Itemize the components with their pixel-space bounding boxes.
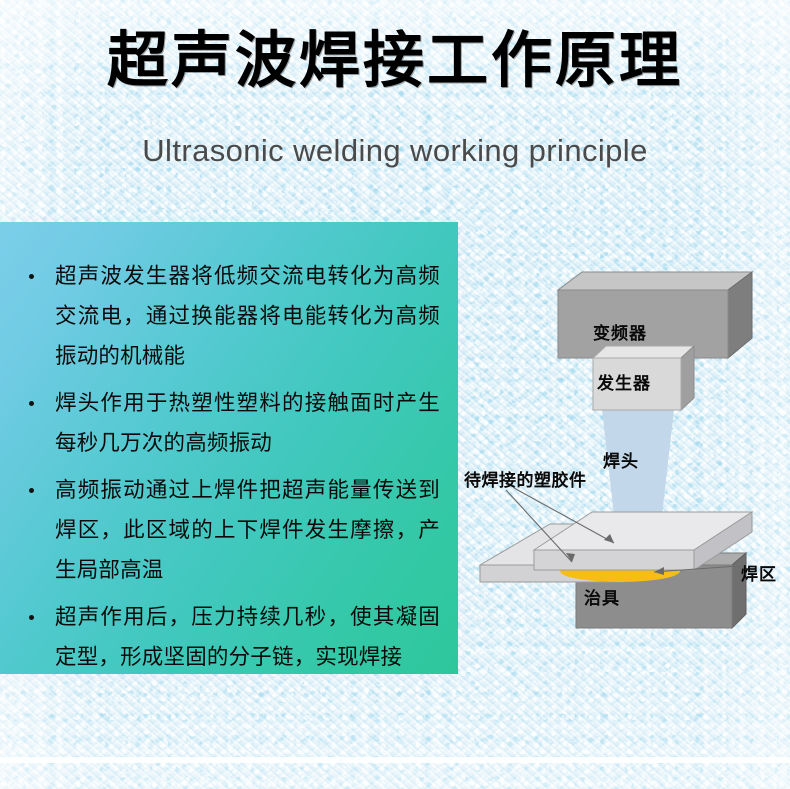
list-item: 超声作用后，压力持续几秒，使其凝固定型，形成坚固的分子链，实现焊接 xyxy=(22,597,440,677)
label-inverter: 变频器 xyxy=(593,319,647,344)
upper-plate-front-face xyxy=(534,550,694,570)
label-horn: 焊头 xyxy=(603,447,639,472)
page-title: 超声波焊接工作原理 xyxy=(0,26,790,96)
label-weld-zone: 焊区 xyxy=(741,560,777,585)
ultrasonic-welding-diagram: 变频器 发生器 焊头 待焊接的塑胶件 治具 焊区 xyxy=(462,262,790,642)
list-item: 高频振动通过上焊件把超声能量传送到焊区，此区域的上下焊件发生摩擦，产生局部高温 xyxy=(22,470,440,590)
label-plastic-parts: 待焊接的塑胶件 xyxy=(464,466,587,491)
inverter-top-face xyxy=(558,272,752,290)
label-generator: 发生器 xyxy=(597,369,651,394)
list-item: 超声波发生器将低频交流电转化为高频交流电，通过换能器将电能转化为高频振动的机械能 xyxy=(22,256,440,376)
bullet-panel: 超声波发生器将低频交流电转化为高频交流电，通过换能器将电能转化为高频振动的机械能… xyxy=(0,222,458,674)
background-white-band xyxy=(0,757,790,763)
generator-top-face xyxy=(593,346,694,358)
poster-canvas: 超声波焊接工作原理 Ultrasonic welding working pri… xyxy=(0,0,790,789)
list-item: 焊头作用于热塑性塑料的接触面时产生每秒几万次的高频振动 xyxy=(22,383,440,463)
bullet-list: 超声波发生器将低频交流电转化为高频交流电，通过换能器将电能转化为高频振动的机械能… xyxy=(22,256,440,677)
label-fixture: 治具 xyxy=(584,584,620,609)
page-subtitle: Ultrasonic welding working principle xyxy=(0,133,790,169)
generator-side-face xyxy=(681,346,694,410)
